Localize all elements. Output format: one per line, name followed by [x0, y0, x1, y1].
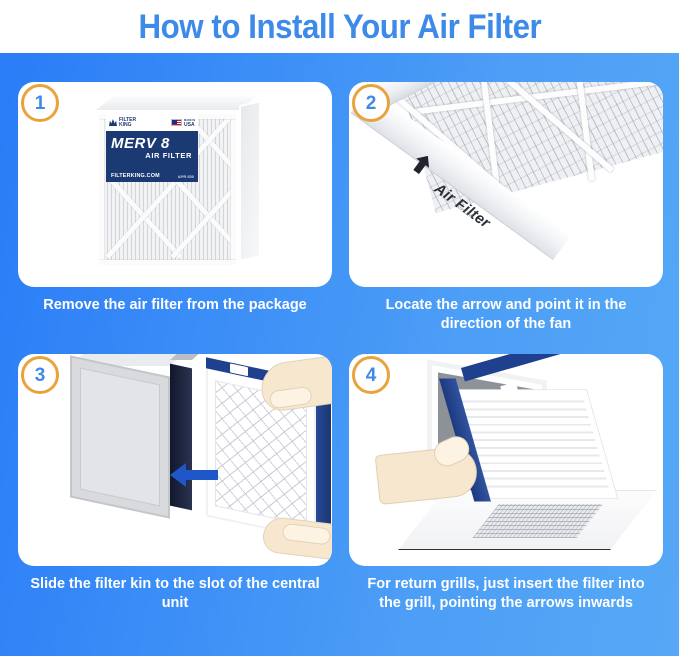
brace	[410, 82, 663, 115]
step-number-2: 2	[366, 94, 377, 113]
slot-opening	[170, 364, 192, 511]
unit-top-side	[170, 354, 210, 360]
crown-icon	[109, 119, 117, 126]
product-label: FILTER KING MADE IN USA	[106, 114, 198, 182]
label-body: MERV 8 AIR FILTER FILTERKING.COM APR 650	[106, 131, 198, 182]
step-number-4: 4	[366, 366, 377, 385]
brace-bottom	[99, 260, 236, 265]
brand-name: FILTER KING	[119, 118, 136, 128]
label-footer: FILTERKING.COM APR 650	[111, 173, 194, 179]
step-number-badge-2: 2	[352, 84, 390, 122]
step-card-3: 3 Slide the filter kin to the slot of th…	[18, 354, 332, 613]
slot-inner	[80, 367, 160, 506]
step-card-4: 4 For return grills, just insert the fil…	[349, 354, 663, 613]
slide-filter-illustration	[18, 354, 332, 566]
brand-lockup: FILTER KING	[109, 118, 136, 128]
filter-corner-illustration: Air Filter AIRFLOW	[349, 82, 663, 287]
filter-box: FILTER KING MADE IN USA	[96, 105, 261, 268]
website-text: FILTERKING.COM	[111, 173, 160, 179]
brace-right	[231, 114, 236, 265]
brand-line-2: KING	[119, 122, 132, 128]
label-subtitle: AIR FILTER	[111, 151, 194, 160]
header: How to Install Your Air Filter	[0, 0, 679, 53]
made-in-usa-text: MADE IN USA	[184, 118, 195, 128]
central-unit-slot	[70, 355, 170, 518]
apr-rating: APR 650	[178, 174, 194, 179]
step-number-badge-4: 4	[352, 356, 390, 394]
filter-side-face	[239, 100, 261, 262]
step-number-1: 1	[35, 94, 46, 113]
filter-top-face	[96, 94, 259, 110]
usa-flag-icon	[171, 119, 182, 126]
step-caption-2: Locate the arrow and point it in the dir…	[349, 296, 663, 334]
made-in-usa-badge: MADE IN USA	[171, 118, 195, 128]
air-filter-product-illustration: FILTER KING MADE IN USA	[18, 82, 332, 287]
brace-left	[99, 114, 104, 265]
hand-top	[258, 355, 332, 414]
label-header: FILTER KING MADE IN USA	[106, 114, 198, 131]
step-number-3: 3	[35, 366, 46, 385]
country-label: USA	[184, 122, 195, 128]
step-caption-4: For return grills, just insert the filte…	[349, 575, 663, 613]
step-4-image-card: 4	[349, 354, 663, 566]
merv-rating: MERV 8	[111, 136, 194, 151]
infographic-page: How to Install Your Air Filter	[0, 0, 679, 656]
step-number-badge-1: 1	[21, 84, 59, 122]
insert-direction-arrow-icon	[170, 462, 218, 488]
return-grill-illustration	[349, 354, 663, 566]
step-2-image-card: Air Filter AIRFLOW 2	[349, 82, 663, 287]
hand-bottom	[261, 516, 332, 561]
step-caption-1: Remove the air filter from the package	[18, 296, 332, 315]
step-caption-3: Slide the filter kin to the slot of the …	[18, 575, 332, 613]
step-card-2: Air Filter AIRFLOW 2 Locate the arrow an…	[349, 82, 663, 334]
step-1-image-card: FILTER KING MADE IN USA	[18, 82, 332, 287]
step-3-image-card: 3	[18, 354, 332, 566]
steps-grid: FILTER KING MADE IN USA	[0, 53, 679, 656]
page-title: How to Install Your Air Filter	[138, 10, 541, 44]
step-card-1: FILTER KING MADE IN USA	[18, 82, 332, 315]
step-number-badge-3: 3	[21, 356, 59, 394]
